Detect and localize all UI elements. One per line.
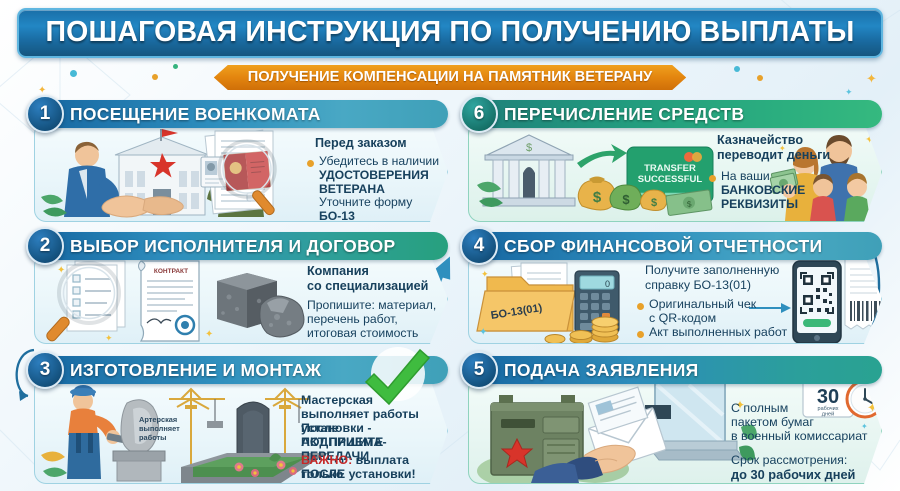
step-1-title: ПОСЕЩЕНИЕ ВОЕНКОМАТА	[70, 104, 321, 125]
step-2-body-line-2: перечень работ,	[307, 312, 398, 326]
sparkle-icon: ✦	[867, 401, 878, 414]
step-1-bullet-line2: УДОСТОВЕРЕНИЯ ВЕТЕРАНА	[319, 168, 447, 196]
step-5-number-badge: 5	[460, 351, 498, 389]
illustration-bank-transfer: $ TRANSFER SUCCESSFUL $	[477, 129, 717, 221]
contract-label: КОНТРАКТ	[154, 268, 188, 275]
step-4-heading-line1: Получите заполненную	[645, 263, 779, 277]
step-card-2: КОНТРАКТ	[28, 232, 448, 344]
step-6-heading-line2: переводит деньги	[717, 148, 830, 162]
illustration-folder-calculator-coins: БО-13(01) 0	[477, 259, 637, 344]
step-3-caption: Артерская выполняет работы	[139, 415, 183, 442]
step-6-bullet-line3: РЕКВИЗИТЫ	[721, 197, 798, 211]
svg-text:✦: ✦	[205, 329, 213, 340]
step-4-bullet-marker-1	[637, 303, 644, 310]
step-3-number-badge: 3	[26, 351, 64, 389]
calendar-sub-2: дней	[822, 411, 834, 418]
step-4-number-badge: 4	[460, 227, 498, 265]
svg-text:✦: ✦	[479, 327, 487, 338]
step-card-1: Перед заказом Убедитесь в наличии УДОСТО…	[28, 100, 448, 222]
illustration-phone-qr-receipt	[787, 257, 882, 344]
step-1-note-bold: БО-13	[319, 209, 355, 222]
step-6-number-badge: 6	[460, 95, 498, 133]
step-card-3: Артерская выполняет работы Мастерская вы…	[28, 356, 448, 484]
step-4-title: СБОР ФИНАНСОВОЙ ОТЧЕТНОСТИ	[504, 236, 822, 257]
step-1-bullet-line1: Убедитесь в наличии	[319, 154, 439, 168]
step-4-bullet-marker-2	[637, 331, 644, 338]
step-4-bullet-1-line2: с QR-кодом	[649, 311, 716, 325]
step-5-header: 5 ПОДАЧА ЗАЯВЛЕНИЯ	[462, 356, 882, 384]
illustration-stonemason-crane-monument	[41, 381, 331, 483]
step-3-caption-line-1: Артерская	[139, 415, 183, 424]
step-6-bullet-line2: БАНКОВСКИЕ	[721, 183, 805, 197]
step-2-title: ВЫБОР ИСПОЛНИТЕЛЯ И ДОГОВОР	[70, 236, 395, 257]
step-2-number-badge: 2	[26, 227, 64, 265]
step-2-heading-line1: Компания	[307, 264, 369, 278]
step-5-body: ✦ 30 рабочих дней ✦ ✦ С п	[468, 378, 882, 484]
step-6-body: $ TRANSFER SUCCESSFUL $	[468, 122, 882, 222]
step-4-bullet-2-line1: Акт выполненных работ	[649, 325, 787, 339]
step-3-caption-line-2: выполняет	[139, 424, 183, 433]
step-2-body: КОНТРАКТ	[34, 254, 448, 344]
illustration-checklist-contract-granite: КОНТРАКТ	[45, 259, 315, 344]
svg-text:✦: ✦	[57, 265, 65, 276]
step-5-body-line-3: в военный комиссариат	[731, 429, 867, 443]
step-2-body-line-3: итоговая стоимость	[307, 326, 418, 340]
step-1-bullet-marker	[307, 160, 314, 167]
step-1-note-text: Уточните форму	[319, 195, 412, 209]
step-card-5: ✦ 30 рабочих дней ✦ ✦ С п	[462, 356, 882, 484]
step-2-body-line-1: Пропишите: материал,	[307, 298, 436, 312]
step-3-important-label: ВАЖНО:	[301, 453, 352, 467]
step-3-title: ИЗГОТОВЛЕНИЕ И МОНТАЖ	[70, 360, 321, 381]
svg-text:✦: ✦	[865, 134, 874, 146]
step-card-6: $ TRANSFER SUCCESSFUL $	[462, 100, 882, 222]
green-checkmark-icon	[358, 344, 436, 406]
step-6-bullet-marker	[709, 175, 716, 182]
step-1-number-badge: 1	[26, 95, 64, 133]
calculator-display: 0	[605, 279, 610, 289]
svg-text:✦: ✦	[105, 333, 113, 343]
step-5-body-line-2: пакетом бумаг	[731, 415, 814, 429]
svg-text:$: $	[593, 189, 602, 206]
step-4-body: БО-13(01) 0	[468, 254, 882, 344]
step-1-header: 1 ПОСЕЩЕНИЕ ВОЕНКОМАТА	[28, 100, 448, 128]
step-6-heading-line1: Казначейство	[717, 133, 803, 147]
step-5-body-line-1: С полным	[731, 401, 788, 415]
transfer-card-line2: SUCCESSFUL	[638, 174, 703, 185]
step-3-caption-line-3: работы	[139, 433, 183, 442]
calendar-number: 30	[817, 386, 839, 408]
illustration-mailbox-envelope-window: ✦	[477, 383, 757, 483]
svg-text:$: $	[526, 142, 532, 154]
step-4-heading-line2: справку БО-13(01)	[645, 278, 751, 292]
step-1-heading: Перед заказом	[315, 136, 407, 150]
step-1-note: Уточните форму БО-13	[319, 195, 447, 222]
svg-text:$: $	[651, 197, 657, 209]
transfer-card-line1: TRANSFER	[644, 163, 696, 174]
svg-text:$: $	[622, 192, 630, 207]
step-5-term-line-1: Срок рассмотрения:	[731, 453, 847, 467]
illustration-veteran-id-magnifier	[185, 127, 305, 222]
step-card-4: БО-13(01) 0	[462, 232, 882, 344]
step-2-header: 2 ВЫБОР ИСПОЛНИТЕЛЯ И ДОГОВОР	[28, 232, 448, 260]
svg-text:✦: ✦	[481, 269, 489, 279]
step-2-heading-line2: со специализацией	[307, 279, 428, 293]
step-5-term-line-2: до 30 рабочих дней	[731, 467, 855, 482]
step-6-title: ПЕРЕЧИСЛЕНИЕ СРЕДСТВ	[504, 104, 744, 125]
step-6-header: 6 ПЕРЕЧИСЛЕНИЕ СРЕДСТВ	[462, 100, 882, 128]
step-4-bullet-1-line1: Оригинальный чек	[649, 297, 756, 311]
step-5-title: ПОДАЧА ЗАЯВЛЕНИЯ	[504, 360, 698, 381]
step-3-important-line2: ПОСЛЕ установки!	[301, 467, 416, 481]
step-6-bullet-line1: На ваши	[721, 169, 770, 183]
step-4-header: 4 СБОР ФИНАНСОВОЙ ОТЧЕТНОСТИ	[462, 232, 882, 260]
infographic-page: ПОШАГОВАЯ ИНСТРУКЦИЯ ПО ПОЛУЧЕНИЮ ВЫПЛАТ…	[0, 0, 900, 491]
step-1-body: Перед заказом Убедитесь в наличии УДОСТО…	[34, 122, 448, 222]
